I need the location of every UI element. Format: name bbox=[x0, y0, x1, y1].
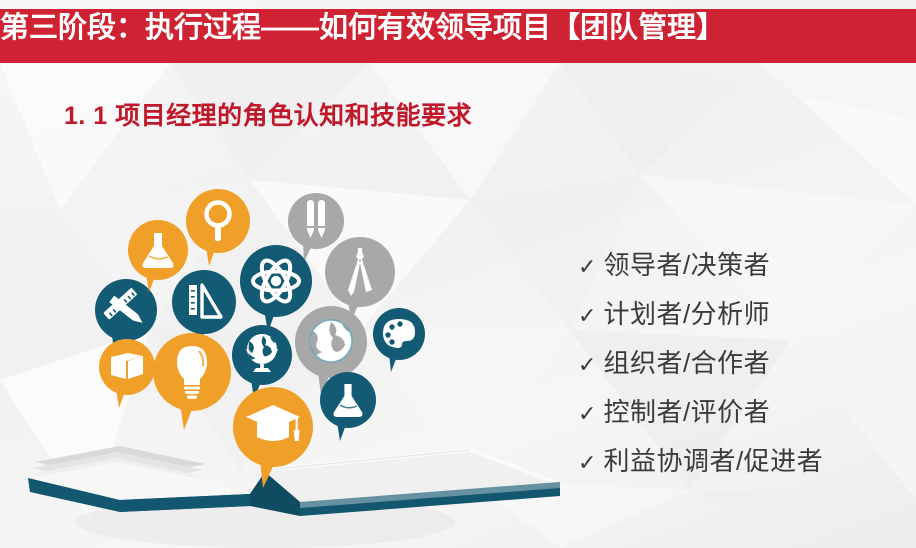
check-icon: ✓ bbox=[578, 401, 596, 427]
list-item: ✓ 控制者/评价者 bbox=[578, 392, 908, 429]
list-item-label: 组织者/合作者 bbox=[603, 343, 770, 380]
illustration-stage bbox=[0, 130, 560, 548]
list-item: ✓ 利益协调者/促进者 bbox=[578, 441, 908, 478]
bubble-flask-blue bbox=[320, 372, 376, 441]
check-icon: ✓ bbox=[578, 352, 596, 378]
bubble-magnifier bbox=[186, 189, 250, 266]
check-icon: ✓ bbox=[578, 450, 596, 476]
earth-icon bbox=[310, 320, 352, 362]
list-item-label: 利益协调者/促进者 bbox=[603, 441, 823, 478]
list-item: ✓ 计划者/分析师 bbox=[578, 294, 908, 331]
page-title: 第三阶段：执行过程——如何有效领导项目【团队管理】 bbox=[0, 13, 916, 43]
list-item: ✓ 领导者/决策者 bbox=[578, 245, 908, 282]
section-subtitle: 1. 1 项目经理的角色认知和技能要求 bbox=[64, 96, 472, 132]
bubble-palette bbox=[373, 308, 425, 372]
check-icon: ✓ bbox=[578, 254, 596, 280]
open-book-graphic bbox=[28, 446, 560, 548]
list-item-label: 计划者/分析师 bbox=[603, 294, 770, 331]
bubble-atom bbox=[240, 245, 312, 332]
roles-list: ✓ 领导者/决策者 ✓ 计划者/分析师 ✓ 组织者/合作者 ✓ 控制者/评价者 … bbox=[578, 245, 908, 490]
check-icon: ✓ bbox=[578, 303, 596, 329]
slide-canvas: 第三阶段：执行过程——如何有效领导项目【团队管理】 1. 1 项目经理的角色认知… bbox=[0, 0, 916, 548]
list-item-label: 控制者/评价者 bbox=[603, 392, 770, 429]
bubble-book bbox=[99, 339, 155, 408]
list-item-label: 领导者/决策者 bbox=[603, 245, 770, 282]
list-item: ✓ 组织者/合作者 bbox=[578, 343, 908, 380]
bubble-lightbulb bbox=[153, 333, 231, 430]
